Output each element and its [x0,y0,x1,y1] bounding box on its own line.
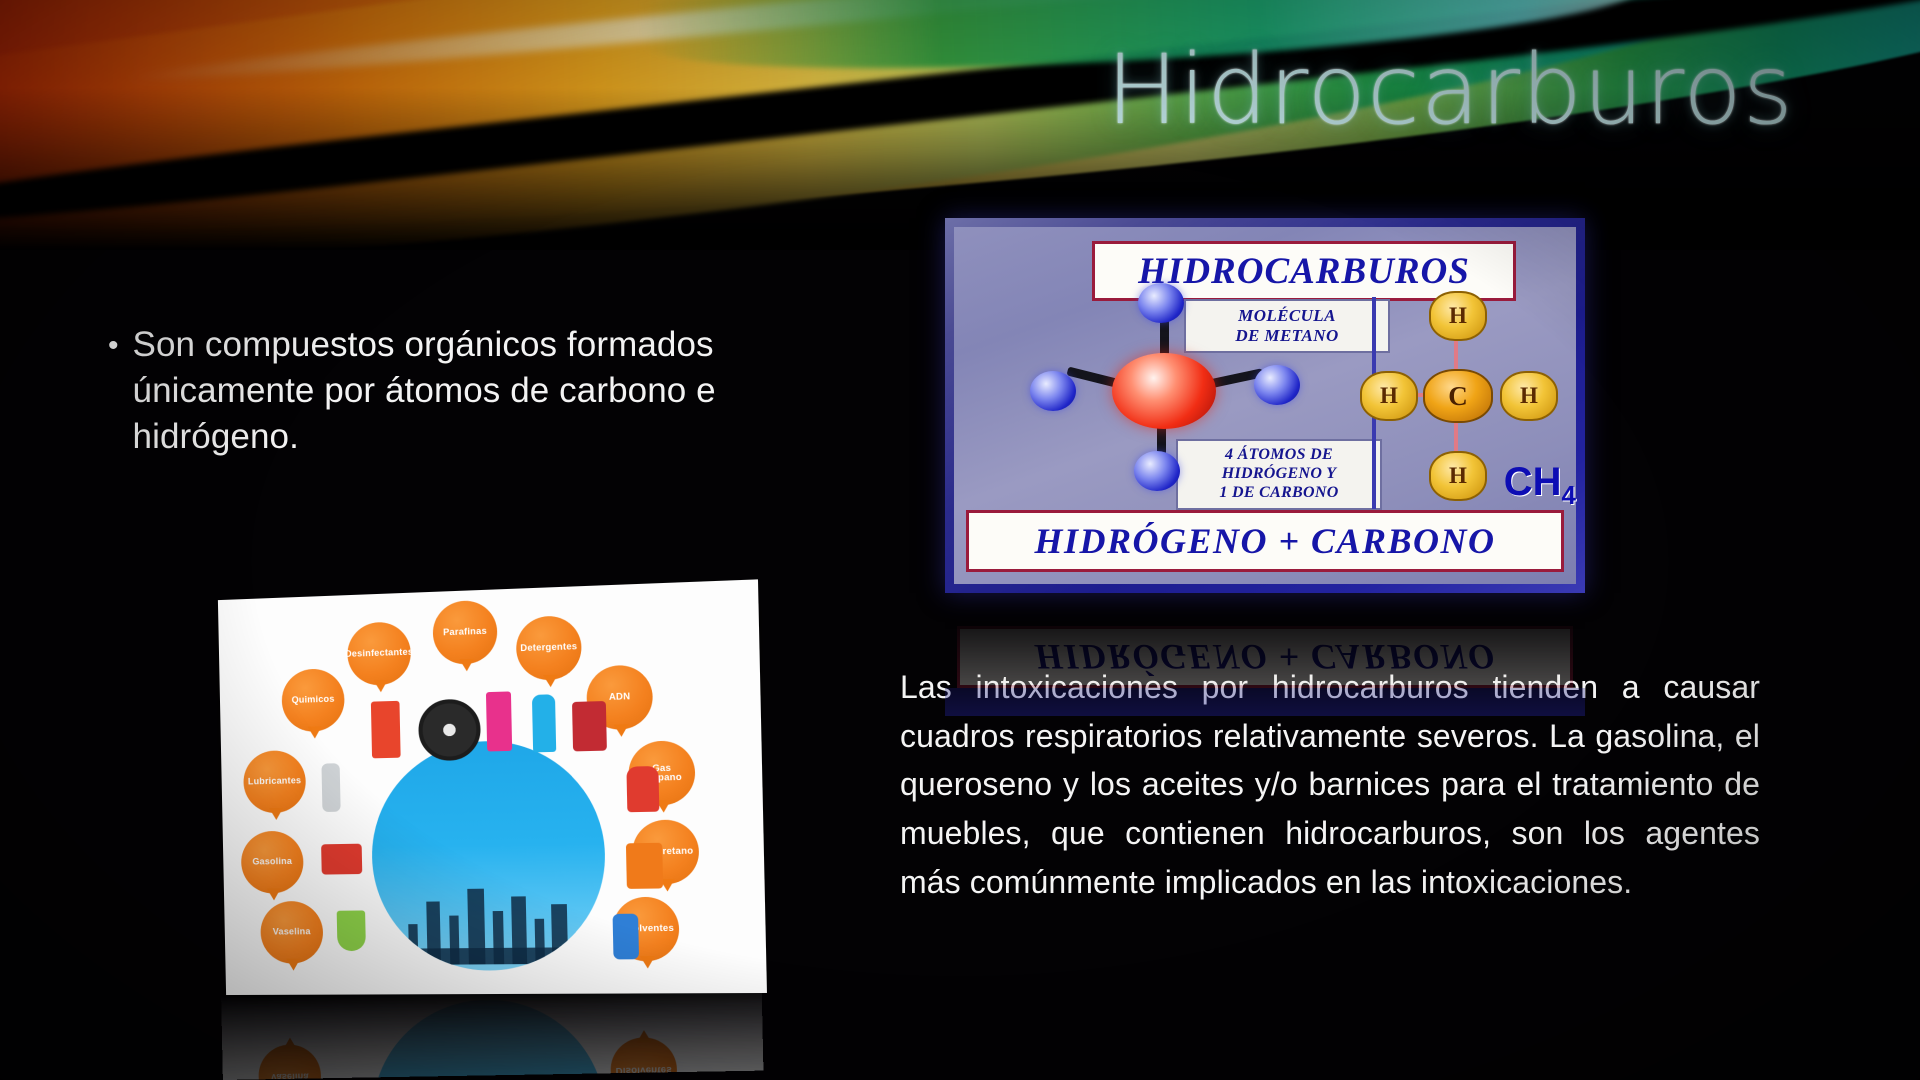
product-bubble: Vaselina [260,901,324,964]
product-bubble: Desinfectantes [347,621,412,686]
bullet-text: Son compuestos orgánicos formados únicam… [133,322,748,461]
formula-base: CH [1504,460,1562,504]
hydrogen-node-bottom: H [1429,451,1487,501]
hydrogen-atom-left [1030,371,1076,411]
list-item: • Son compuestos orgánicos formados únic… [108,322,748,461]
product-icon-canister [371,701,401,759]
diagram-reflection: HIDRÓGENO + CARBONO [945,596,1585,716]
refinery-illustration [372,864,607,965]
presentation-slide: Hidrocarburos • Son compuestos orgánicos… [0,0,1920,1080]
product-icon-gas-tank [626,766,659,812]
product-icon-flask [337,910,366,951]
hydrogen-node-top: H [1429,291,1487,341]
formula-subscript: 4 [1562,480,1576,510]
reflection-bubble: Disolventes [610,1037,678,1080]
hydrogen-atom-bottom [1134,451,1180,491]
bullet-list: • Son compuestos orgánicos formados únic… [108,322,748,461]
hydrogen-node-right: H [1500,371,1558,421]
hydrogen-node-left: H [1360,371,1418,421]
product-icon-bottle [321,763,340,812]
hydrogen-atom-right [1254,365,1300,405]
hydrocarbons-diagram-image: HIDROCARBUROS MOLÉCULA DE METANO 4 ÁTOMO… [945,218,1585,593]
hydrogen-atom-top [1138,283,1184,323]
bullet-marker-icon: • [108,322,119,370]
product-bubble: Parafinas [432,600,498,666]
refinery-globe [370,738,608,971]
product-icon-fuel-pump [321,844,362,875]
product-icon-spray [532,694,556,752]
page-title: Hidrocarburos [1040,42,1860,138]
methane-structural-formula: H H H H C CH4 [1384,285,1580,511]
product-bubble: Lubricantes [243,750,306,814]
refinery-base [374,947,607,965]
chemical-formula-label: CH4 [1504,460,1576,511]
reflection-bubble: Vaselina [258,1044,322,1080]
product-icon-oil-can [572,701,607,751]
product-icon-bucket [626,843,663,889]
hydrocarbon-products-infographic: Desinfectantes Parafinas Detergentes Qui… [218,579,767,995]
product-bubble: Quimicos [281,668,345,732]
reflection-globe [370,997,608,1080]
methane-3d-model [972,279,1368,509]
reflection-body [945,688,1585,716]
product-bubble: Gasolina [241,831,304,894]
carbon-node: C [1423,369,1493,423]
product-icon-detergent [613,914,640,960]
diagram-bottom-banner: HIDRÓGENO + CARBONO [966,510,1564,572]
product-icon-candle [486,691,512,751]
reflection-banner-text: HIDRÓGENO + CARBONO [1034,636,1495,678]
reflection-banner: HIDRÓGENO + CARBONO [957,626,1573,688]
product-bubble: Detergentes [516,615,582,681]
carbon-atom [1112,353,1216,429]
diagram-inner-panel: HIDROCARBUROS MOLÉCULA DE METANO 4 ÁTOMO… [954,227,1576,584]
infographic-reflection: Vaselina Disolventes [221,982,763,1080]
diagram-banner-text: HIDRÓGENO + CARBONO [1034,520,1495,562]
